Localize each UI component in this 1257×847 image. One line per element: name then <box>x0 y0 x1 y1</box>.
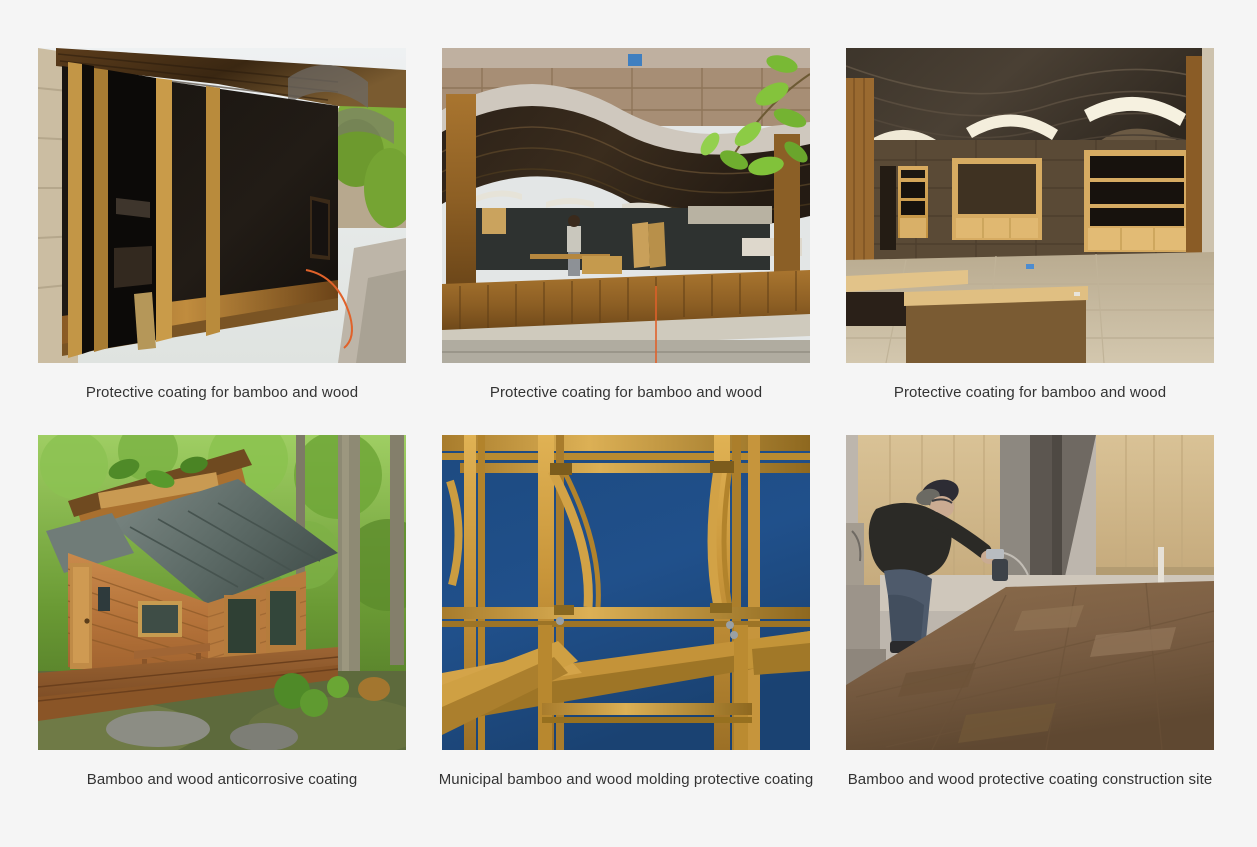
gallery-caption: Bamboo and wood protective coating const… <box>848 771 1213 789</box>
gallery-thumbnail-wooden-cabin-forest[interactable] <box>38 435 406 750</box>
gallery-item[interactable]: Protective coating for bamboo and wood <box>846 48 1214 402</box>
gallery-item[interactable]: Protective coating for bamboo and wood <box>442 48 810 402</box>
gallery-row: Bamboo and wood anticorrosive coating <box>38 435 1219 789</box>
gallery-thumbnail-bamboo-wood-interior-shelving[interactable] <box>846 48 1214 363</box>
gallery-caption: Bamboo and wood anticorrosive coating <box>87 771 358 789</box>
gallery-item[interactable]: Bamboo and wood protective coating const… <box>846 435 1214 789</box>
gallery-item[interactable]: Bamboo and wood anticorrosive coating <box>38 435 406 789</box>
gallery-thumbnail-bamboo-wood-pavilion[interactable] <box>442 48 810 363</box>
gallery-thumbnail-bamboo-frame-blue-sky[interactable] <box>442 435 810 750</box>
image-gallery: Protective coating for bamboo and wood <box>0 0 1257 847</box>
gallery-caption: Protective coating for bamboo and wood <box>490 384 762 402</box>
gallery-caption: Protective coating for bamboo and wood <box>894 384 1166 402</box>
gallery-thumbnail-worker-spraying-coating[interactable] <box>846 435 1214 750</box>
gallery-item[interactable]: Municipal bamboo and wood molding protec… <box>442 435 810 789</box>
gallery-caption: Protective coating for bamboo and wood <box>86 384 358 402</box>
gallery-row: Protective coating for bamboo and wood <box>38 48 1219 402</box>
gallery-thumbnail-bamboo-wood-facade[interactable] <box>38 48 406 363</box>
gallery-caption: Municipal bamboo and wood molding protec… <box>439 771 814 789</box>
gallery-item[interactable]: Protective coating for bamboo and wood <box>38 48 406 402</box>
